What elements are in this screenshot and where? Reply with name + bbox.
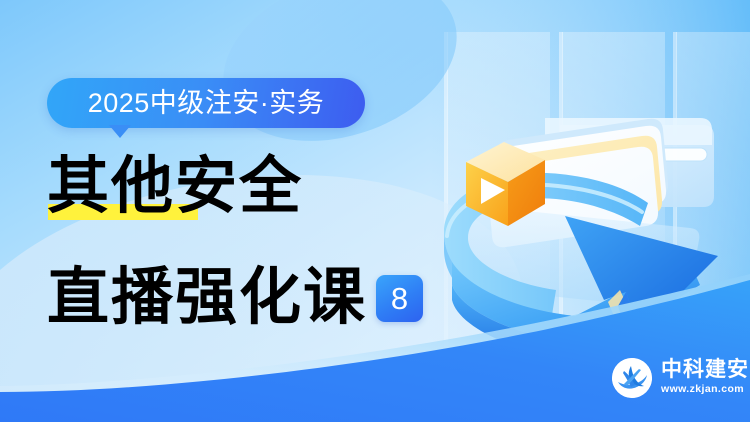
course-tag-tail (109, 125, 131, 138)
course-banner: 2025中级注安·实务 其他安全 直播强化课 8 中科建安 www.zkjan (0, 0, 750, 422)
course-title-text-2: 直播强化课 (47, 266, 367, 328)
brand-logo-text: 中科建安 www.zkjan.com (661, 359, 749, 397)
zkjan-circle-logo-icon (612, 358, 652, 398)
course-title: 其他安全 直播强化课 8 (47, 148, 467, 328)
course-tag: 2025中级注安·实务 (47, 78, 365, 128)
course-title-line-1: 其他安全 (47, 148, 467, 224)
course-title-line-2: 直播强化课 8 (47, 252, 467, 328)
episode-badge: 8 (376, 275, 423, 322)
course-title-text-1: 其他安全 (47, 155, 303, 217)
brand-name: 中科建安 (661, 359, 749, 381)
brand-logo[interactable]: 中科建安 www.zkjan.com (612, 358, 749, 398)
course-tag-label: 2025中级注安·实务 (88, 90, 325, 117)
course-tag-pill: 2025中级注安·实务 (47, 78, 365, 128)
brand-url: www.zkjan.com (661, 383, 749, 397)
